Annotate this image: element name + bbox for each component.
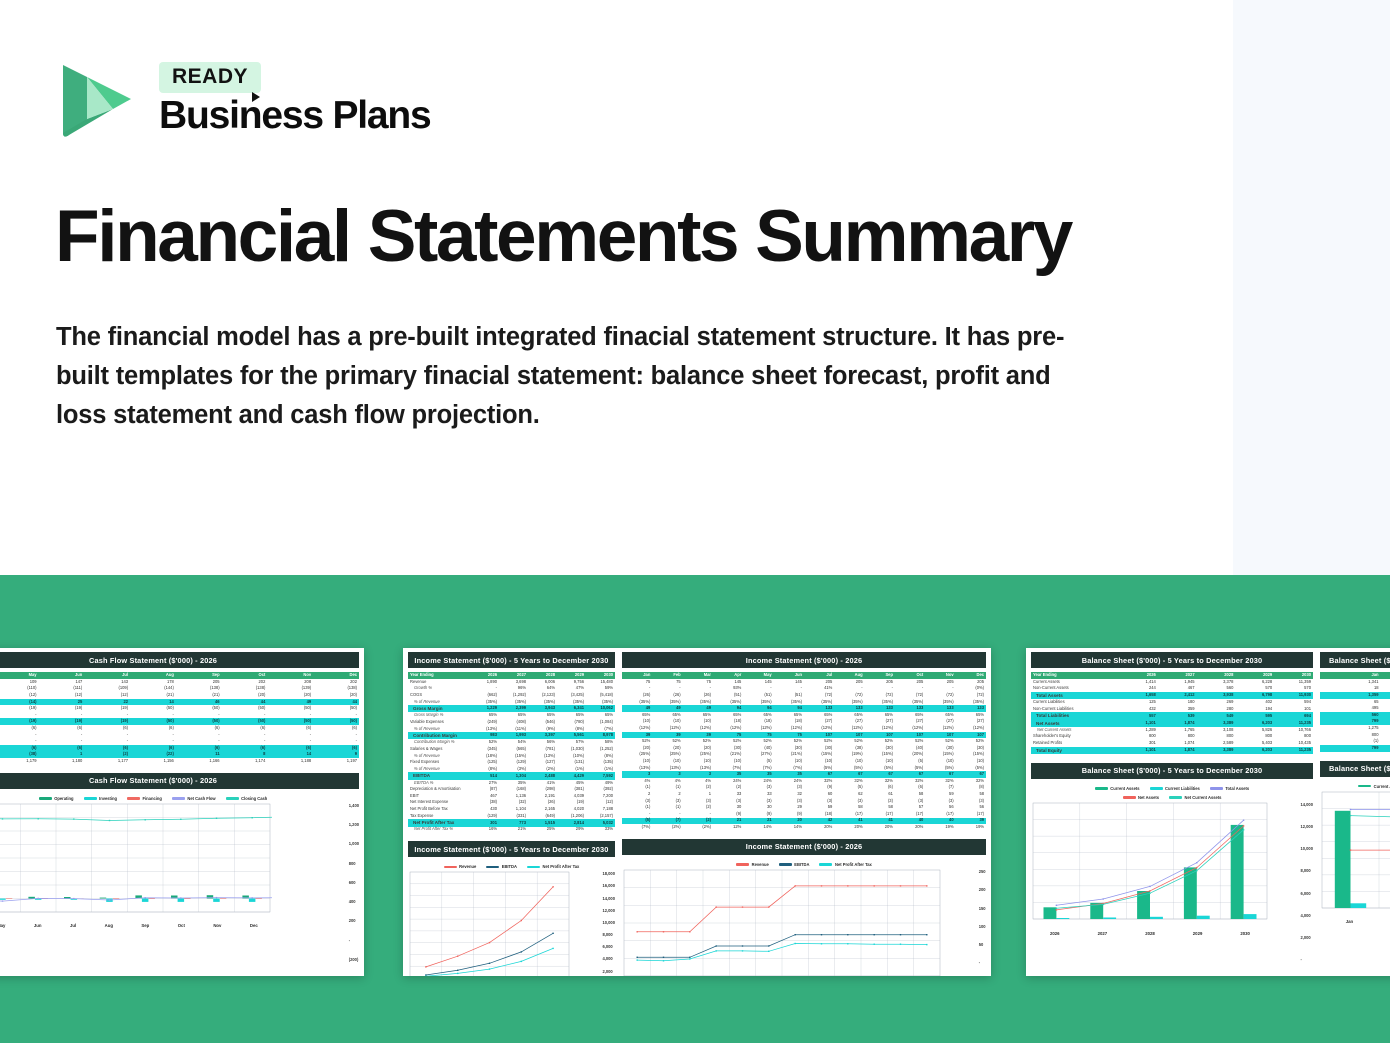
- table-cell: -: [0, 738, 39, 745]
- axis-tick: 6,000: [1300, 891, 1313, 896]
- axis-tick: -: [1300, 957, 1313, 962]
- table-cell: (2%): [528, 766, 557, 773]
- table-cell: (12): [0, 692, 39, 699]
- table-cell: 1,177: [84, 758, 130, 765]
- table-cell: (2): [683, 804, 713, 811]
- table-cell: 56: [925, 804, 955, 811]
- table-cell: 1,180: [39, 758, 85, 765]
- table-row: Total Equity1,1011,8743,3896,20311,235: [1031, 747, 1313, 754]
- table-cell: (12%): [622, 725, 652, 732]
- table-cell: (135): [586, 759, 615, 766]
- table-cell: (51): [743, 692, 773, 699]
- page-title: Financial Statements Summary: [55, 200, 1071, 273]
- table-cell: 1: [683, 791, 713, 798]
- table-cell: (5,418): [586, 692, 615, 699]
- row-label: Total Liabilities: [1031, 712, 1119, 719]
- axis-tick: 8,000: [1300, 868, 1313, 873]
- table-cell: -: [313, 738, 359, 745]
- table-cell: 3: [652, 771, 682, 778]
- column-header: Nov: [267, 672, 313, 679]
- legend-label: Closing Cash: [241, 796, 267, 801]
- table-cell: (10): [652, 758, 682, 765]
- table-cell: 1,874: [1158, 747, 1197, 754]
- legend-item: Net Assets: [1123, 795, 1160, 800]
- table-cell: (26): [622, 692, 652, 699]
- table-cell: 205: [834, 679, 864, 686]
- table-cell: (12%): [683, 725, 713, 732]
- table-cell: 67: [925, 771, 955, 778]
- table-cell: 49: [622, 705, 652, 712]
- table-cell: (12%): [925, 725, 955, 732]
- column-header: Nov: [925, 672, 955, 679]
- row-label: Net Profit After Tax %: [408, 827, 470, 834]
- table-row: Equity Raised---------: [0, 732, 359, 739]
- chart-legend-row2: Net AssetsNet Current Assets: [1031, 792, 1313, 801]
- table-cell: 94: [713, 705, 743, 712]
- table-header-row: Year Ending20262027202820292030: [408, 672, 615, 679]
- table-cell: 67: [834, 771, 864, 778]
- table-cell: (20): [267, 692, 313, 699]
- table-cell: 133: [804, 705, 834, 712]
- table-cell: 5,403: [1235, 740, 1274, 747]
- legend-label: Net Assets: [1138, 795, 1159, 800]
- slide-page: READY Business Plans Financial Statement…: [0, 0, 1390, 1043]
- table-cell: -: [222, 738, 268, 745]
- axis-tick: 400: [349, 899, 359, 904]
- axis-tick: 2029: [1193, 931, 1203, 936]
- row-label: Fixed Expenses: [408, 759, 470, 766]
- table-cell: 33%: [586, 827, 615, 834]
- table-row: EBITDA5141,3042,4884,4297,592: [408, 772, 615, 779]
- table-cell: 133: [956, 705, 986, 712]
- axis-tick: 16,000: [602, 883, 615, 888]
- legend-label: Investing: [99, 796, 117, 801]
- table-row: Depreciation & Amortisation(1)(1)(2)(2)(…: [622, 785, 986, 792]
- chart-legend: Current AssetsCurrent LiabilitiesTotal A…: [1031, 783, 1313, 792]
- axis-tick: 4,000: [602, 956, 615, 961]
- table-cell: 133: [865, 705, 895, 712]
- x-axis-labels: 20262027202820292030: [1031, 929, 1269, 936]
- table-cell: 1,104: [499, 806, 528, 813]
- table-cell: (8%): [557, 726, 586, 733]
- axis-tick: -: [349, 938, 359, 943]
- table-cell: 4,429: [557, 772, 586, 779]
- table-row: Financing Cash Flow(6)(6)(6)(6)(6)(6)(6)…: [0, 745, 359, 752]
- table-row: Non-Current Liabilities432359280194101: [1031, 706, 1313, 713]
- table-cell: 1,101: [1119, 720, 1158, 727]
- table-cell: 1,359: [1381, 692, 1390, 699]
- axis-tick: 12,000: [602, 908, 615, 913]
- table-cell: (12%): [865, 725, 895, 732]
- table-row: Tax Expense(129)(331)(649)(1,206)(2,157): [408, 813, 615, 820]
- axis-tick: 2026: [1050, 931, 1060, 936]
- income2026-chart-title: Income Statement ($'000) - 2026: [622, 839, 986, 855]
- table-cell: 52%: [925, 738, 955, 745]
- table-row: Depreciation & Amortisation(87)(168)(298…: [408, 786, 615, 793]
- table-cell: (1,084): [586, 719, 615, 726]
- table-cell: (345): [470, 746, 499, 753]
- income-statement-screenshot[interactable]: Income Statement ($'000) - 5 Years to De…: [403, 648, 991, 976]
- table-cell: (8%): [470, 766, 499, 773]
- table-row: Loan Repayments(6)(6)(6)(6)(6)(6)(6)(6)(…: [0, 725, 359, 732]
- row-label: Non-Current Liabilities: [1031, 706, 1119, 713]
- table-cell: 133: [834, 705, 864, 712]
- table-row: Capital Expenditure(19)(19)(19)(19)(50)(…: [0, 705, 359, 712]
- table-cell: 402: [1235, 699, 1274, 706]
- chart-legend: RevenueEBITDANet Profit After Tax: [622, 859, 986, 868]
- table-cell: 1,251: [1381, 725, 1390, 732]
- income5yr-chart: RevenueEBITDANet Profit After Tax 202620…: [408, 861, 615, 976]
- column-header: Feb: [1381, 672, 1390, 679]
- axis-tick: 150: [979, 906, 986, 911]
- table-header-row: JanFebMarAprMayJunJulAugSepOctNovDec: [622, 672, 986, 679]
- table-cell: 33: [713, 791, 743, 798]
- table-cell: (50): [267, 705, 313, 712]
- table-cell: (87): [470, 786, 499, 793]
- legend-label: EBITDA: [502, 864, 517, 869]
- row-label: Non-Current Assets: [1031, 685, 1119, 692]
- table-cell: (12%): [713, 725, 743, 732]
- table-cell: (72): [804, 692, 834, 699]
- legend-item: EBITDA: [486, 864, 517, 869]
- table-cell: -: [84, 738, 130, 745]
- table-cell: (72): [956, 692, 986, 699]
- table-cell: 11,235: [1274, 720, 1313, 727]
- table-cell: 125: [1119, 699, 1158, 706]
- table-row: Current Liabilities125180269402594: [1031, 699, 1313, 706]
- legend-swatch: [84, 797, 97, 800]
- legend-label: Current Assets: [1374, 784, 1390, 789]
- table-row: Net Current Assets1,2751,251: [1320, 725, 1390, 732]
- legend-swatch: [1210, 787, 1223, 790]
- column-header: 2027: [499, 672, 528, 679]
- table-cell: 19%: [956, 824, 986, 831]
- table-cell: 12%: [713, 824, 743, 831]
- table-cell: 14%: [774, 824, 804, 831]
- table-cell: -: [39, 732, 85, 739]
- income5yr-table-title: Income Statement ($'000) - 5 Years to De…: [408, 652, 615, 668]
- table-cell: (35%): [499, 699, 528, 706]
- legend-swatch: [172, 797, 185, 800]
- chart-legend: OperatingInvestingFinancingNet Cash Flow…: [0, 793, 359, 802]
- axis-tick: 10,000: [602, 920, 615, 925]
- table-cell: 49: [652, 705, 682, 712]
- table-cell: 244: [1119, 685, 1158, 692]
- table-cell: (35%): [557, 699, 586, 706]
- table-cell: (13%): [470, 726, 499, 733]
- table-cell: 594: [1274, 699, 1313, 706]
- table-cell: 6,203: [1235, 720, 1274, 727]
- table-cell: (9%): [528, 726, 557, 733]
- table-row: Non-Current Assets244467560570570: [1031, 685, 1313, 692]
- table-cell: (331): [499, 813, 528, 820]
- legend-swatch: [527, 866, 540, 869]
- table-cell: (1,030): [557, 746, 586, 753]
- table-cell: (649): [528, 813, 557, 820]
- table-cell: (19): [84, 705, 130, 712]
- table-cell: (381): [557, 786, 586, 793]
- table-cell: -: [267, 732, 313, 739]
- table-cell: 6,203: [1235, 747, 1274, 754]
- table-cell: (50): [222, 705, 268, 712]
- table-cell: 549: [1197, 712, 1236, 719]
- table-cell: 60: [804, 791, 834, 798]
- table-cell: (10): [683, 758, 713, 765]
- axis-tick: 14,000: [602, 896, 615, 901]
- table-cell: 1,197: [313, 758, 359, 765]
- row-label: Current Liabilities: [1031, 699, 1119, 706]
- y-axis-labels: 14,00012,00010,0008,0006,0004,0002,000-: [1297, 801, 1313, 971]
- table-cell: (129): [470, 813, 499, 820]
- table-cell: 59: [925, 791, 955, 798]
- column-header: May: [743, 672, 773, 679]
- x-axis-labels: JanFeb: [1320, 918, 1390, 925]
- axis-tick: 2028: [1145, 931, 1155, 936]
- axis-tick: 200: [349, 918, 359, 923]
- table-cell: 1,179: [0, 758, 39, 765]
- axis-tick: 2,000: [1300, 935, 1313, 940]
- column-header: Jul: [84, 672, 130, 679]
- table-cell: (5): [895, 758, 925, 765]
- table-cell: 1,359: [1320, 692, 1381, 699]
- table-cell: (72): [865, 692, 895, 699]
- table-cell: (50): [130, 705, 176, 712]
- table-row: Contribution Margin %52%52%52%52%52%52%5…: [622, 738, 986, 745]
- legend-item: Operating: [39, 796, 74, 801]
- table-cell: (35%): [528, 699, 557, 706]
- table-row: Variable Expenses(249)(408)(546)(780)(1,…: [408, 719, 615, 726]
- table-cell: 25%: [528, 827, 557, 834]
- table-row: Dividends---------: [0, 738, 359, 745]
- table-cell: 1,323: [1381, 679, 1390, 686]
- row-label: % of Revenue: [408, 766, 470, 773]
- table-cell: (7%): [586, 726, 615, 733]
- table-cell: 1,166: [176, 758, 222, 765]
- table-cell: (1%): [557, 766, 586, 773]
- table-cell: (7%): [622, 824, 652, 831]
- table-cell: 430: [470, 806, 499, 813]
- table-cell: 14%: [743, 824, 773, 831]
- table-cell: 1,304: [499, 772, 528, 779]
- table-row: EBIT221333332606261585958: [622, 791, 986, 798]
- chart-svg: [1320, 790, 1390, 918]
- table-cell: 467: [1158, 685, 1197, 692]
- table-cell: (1%): [586, 766, 615, 773]
- table-row: Net Assets799798: [1320, 718, 1390, 725]
- table-header-row: Year Ending20262027202820292030: [1031, 672, 1313, 679]
- table-cell: (6): [39, 725, 85, 732]
- table-cell: 3,389: [1197, 720, 1236, 727]
- table-cell: -: [130, 738, 176, 745]
- table-cell: 1,174: [222, 758, 268, 765]
- table-cell: 52%: [774, 738, 804, 745]
- table-cell: (1,292): [499, 692, 528, 699]
- table-cell: (546): [528, 719, 557, 726]
- legend-item: Net Profit After Tax: [527, 864, 579, 869]
- table-cell: 798: [1381, 718, 1390, 725]
- table-cell: (21): [130, 692, 176, 699]
- table-cell: 269: [1197, 699, 1236, 706]
- chart-svg: [0, 802, 272, 922]
- legend-item: Current Liabilities: [1150, 786, 1200, 791]
- axis-tick: 14,000: [1300, 802, 1313, 807]
- table-row: Fixed Expenses(10)(10)(10)(10)(5)(10)(10…: [622, 758, 986, 765]
- table-cell: 133: [925, 705, 955, 712]
- legend-label: Net Cash Flow: [187, 796, 215, 801]
- balance5yr-chart: Current AssetsCurrent LiabilitiesTotal A…: [1031, 783, 1313, 971]
- table-cell: 301: [1119, 740, 1158, 747]
- legend-item: Investing: [84, 796, 117, 801]
- table-cell: (2,123): [528, 692, 557, 699]
- table-cell: (12%): [834, 725, 864, 732]
- table-cell: 72: [1381, 699, 1390, 706]
- axis-tick: May: [0, 923, 5, 928]
- table-cell: (12%): [743, 725, 773, 732]
- table-cell: 2,165: [528, 806, 557, 813]
- table-cell: 75: [652, 679, 682, 686]
- table-cell: 133: [895, 705, 925, 712]
- table-cell: 514: [470, 772, 499, 779]
- table-cell: 52%: [804, 738, 834, 745]
- table-cell: (1,206): [557, 813, 586, 820]
- table-cell: 35: [743, 771, 773, 778]
- table-cell: (10): [834, 758, 864, 765]
- table-row: COGS(26)(26)(26)(51)(51)(51)(72)(72)(72)…: [622, 692, 986, 699]
- table-cell: (72): [834, 692, 864, 699]
- legend-swatch: [736, 863, 749, 866]
- axis-tick: 2027: [1098, 931, 1108, 936]
- table-cell: 1,101: [1119, 747, 1158, 754]
- table-cell: -: [130, 732, 176, 739]
- axis-tick: 10,000: [1300, 846, 1313, 851]
- table-cell: (12%): [652, 725, 682, 732]
- axis-tick: 2,000: [602, 969, 615, 974]
- table-cell: 52%: [834, 738, 864, 745]
- legend-label: EBITDA: [794, 862, 809, 867]
- legend-label: Operating: [54, 796, 73, 801]
- table-cell: 20%: [895, 824, 925, 831]
- axis-tick: -: [979, 960, 986, 965]
- axis-tick: (200): [349, 957, 359, 962]
- table-cell: -: [0, 732, 39, 739]
- table-cell: 560: [1197, 685, 1236, 692]
- axis-tick: 100: [979, 924, 986, 929]
- table-row: Current Liabilities6572: [1320, 699, 1390, 706]
- table-cell: (2): [1381, 738, 1390, 745]
- column-header: 2030: [1274, 672, 1313, 679]
- table-cell: 561: [1381, 712, 1390, 719]
- y-axis-labels: 18,00016,00014,00012,00010,0008,0006,000…: [599, 870, 615, 976]
- axis-tick: Jan: [1346, 919, 1353, 924]
- table-cell: 20%: [804, 824, 834, 831]
- column-header: Oct: [895, 672, 925, 679]
- table-row: Net Profit Before Tax4301,1042,1654,0207…: [408, 806, 615, 813]
- legend-item: Financing: [127, 796, 162, 801]
- table-cell: 3: [622, 771, 652, 778]
- cashflow-screenshot[interactable]: Cash Flow Statement ($'000) - 2026 AprMa…: [0, 648, 364, 976]
- table-cell: (298): [528, 786, 557, 793]
- table-row: Non-Current Assets1836: [1320, 685, 1390, 692]
- table-cell: 52%: [895, 738, 925, 745]
- table-cell: 1,275: [1320, 725, 1381, 732]
- legend-item: EBITDA: [779, 862, 810, 867]
- legend-item: Total Assets: [1210, 786, 1249, 791]
- table-cell: 359: [1158, 706, 1197, 713]
- table-cell: 52%: [956, 738, 986, 745]
- table-row: Total Liabilities557539549595694: [1031, 712, 1313, 719]
- column-header: Oct: [222, 672, 268, 679]
- chart-svg: [1031, 801, 1269, 929]
- table-cell: 49: [683, 705, 713, 712]
- axis-tick: 6,000: [602, 944, 615, 949]
- table-cell: 30: [743, 804, 773, 811]
- table-cell: 52%: [652, 738, 682, 745]
- x-axis-labels: AprMayJunJulAugSepOctNovDec: [0, 922, 272, 929]
- table-cell: 539: [1158, 712, 1197, 719]
- column-header: Jun: [774, 672, 804, 679]
- axis-tick: 12,000: [1300, 824, 1313, 829]
- table-cell: 29: [774, 804, 804, 811]
- table-row: Non-Current Liabilities495489: [1320, 705, 1390, 712]
- table-cell: 7,592: [586, 772, 615, 779]
- legend-swatch: [444, 866, 457, 869]
- y-axis-labels: 1,4001,2001,000800600400200-(200): [346, 802, 359, 971]
- table-cell: (662): [470, 692, 499, 699]
- table-cell: (1): [622, 804, 652, 811]
- legend-item: Current Assets: [1095, 786, 1140, 791]
- table-cell: (72): [895, 692, 925, 699]
- table-cell: -: [222, 732, 268, 739]
- table-cell: (6): [222, 725, 268, 732]
- table-cell: 694: [1274, 712, 1313, 719]
- table-cell: 67: [895, 771, 925, 778]
- column-header: Sep: [865, 672, 895, 679]
- table-cell: 32: [774, 791, 804, 798]
- table-cell: -: [84, 732, 130, 739]
- column-header: Feb: [652, 672, 682, 679]
- table-row: % of Revenue(8%)(3%)(2%)(1%)(1%): [408, 766, 615, 773]
- table-cell: (6): [84, 725, 130, 732]
- legend-label: Financing: [143, 796, 162, 801]
- table-cell: (51): [713, 692, 743, 699]
- table-cell: (12%): [956, 725, 986, 732]
- table-row: Revenue757575145145145205205205205205205: [622, 679, 986, 686]
- table-cell: (50): [176, 705, 222, 712]
- table-cell: 798: [1381, 745, 1390, 752]
- table-row: % of Revenue(13%)(11%)(9%)(8%)(7%): [408, 726, 615, 733]
- column-header: Dec: [956, 672, 986, 679]
- legend-item: Net Current Assets: [1169, 795, 1221, 800]
- table-cell: 67: [804, 771, 834, 778]
- brand-name-text: Business Plans: [159, 94, 431, 137]
- table-row: Net Assets1,1011,8743,3896,20311,235: [1031, 720, 1313, 727]
- row-label: % of Revenue: [408, 699, 470, 706]
- legend-label: Revenue: [459, 864, 476, 869]
- table-row: Total Liabilities560561: [1320, 712, 1390, 719]
- table-cell: (51): [774, 692, 804, 699]
- table-cell: 432: [1119, 706, 1158, 713]
- balance2026-table: JanFeb Current Assets1,3411,323Non-Curre…: [1320, 672, 1390, 751]
- table-cell: (10): [956, 758, 986, 765]
- table-cell: 1,156: [130, 758, 176, 765]
- column-header: Aug: [130, 672, 176, 679]
- row-label: EBITDA: [408, 772, 470, 779]
- legend-swatch: [779, 863, 792, 866]
- table-cell: 180: [1158, 699, 1197, 706]
- table-cell: (20): [313, 692, 359, 699]
- balance-sheet-screenshot[interactable]: Balance Sheet ($'000) - 5 Years to Decem…: [1026, 648, 1390, 976]
- table-cell: (12%): [774, 725, 804, 732]
